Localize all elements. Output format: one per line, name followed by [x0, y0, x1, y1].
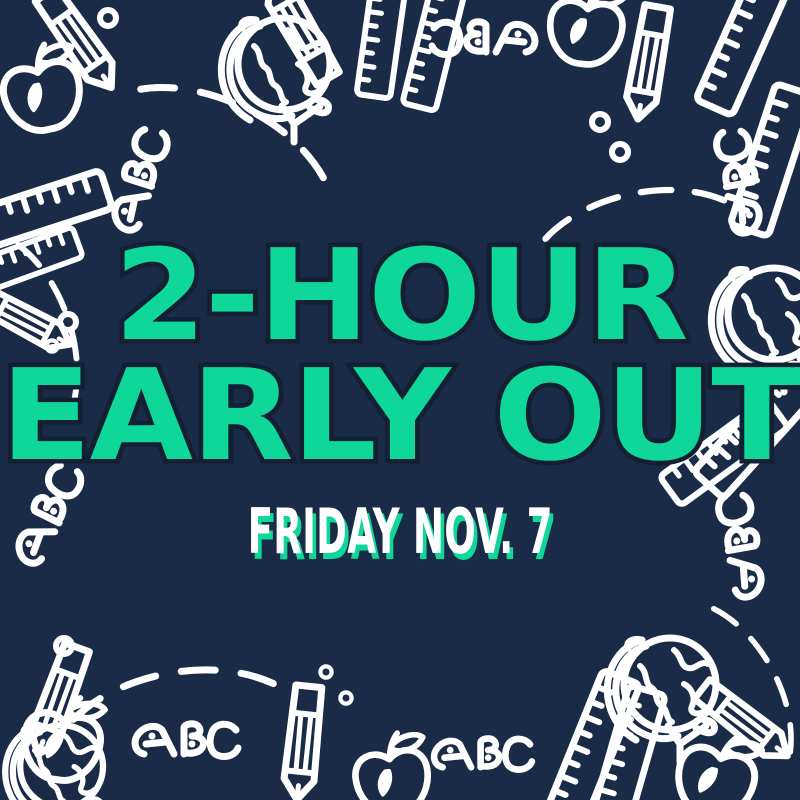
headline-line-2: EARLY OUT — [0, 357, 800, 475]
poster-text-block: 2-HOUR EARLY OUT FRIDAY NOV. 7 — [0, 0, 800, 800]
event-date-subtitle: FRIDAY NOV. 7 — [247, 501, 552, 563]
early-out-announcement-poster: 2-HOUR EARLY OUT FRIDAY NOV. 7 — [0, 0, 800, 800]
headline-line-1: 2-HOUR — [114, 237, 687, 355]
